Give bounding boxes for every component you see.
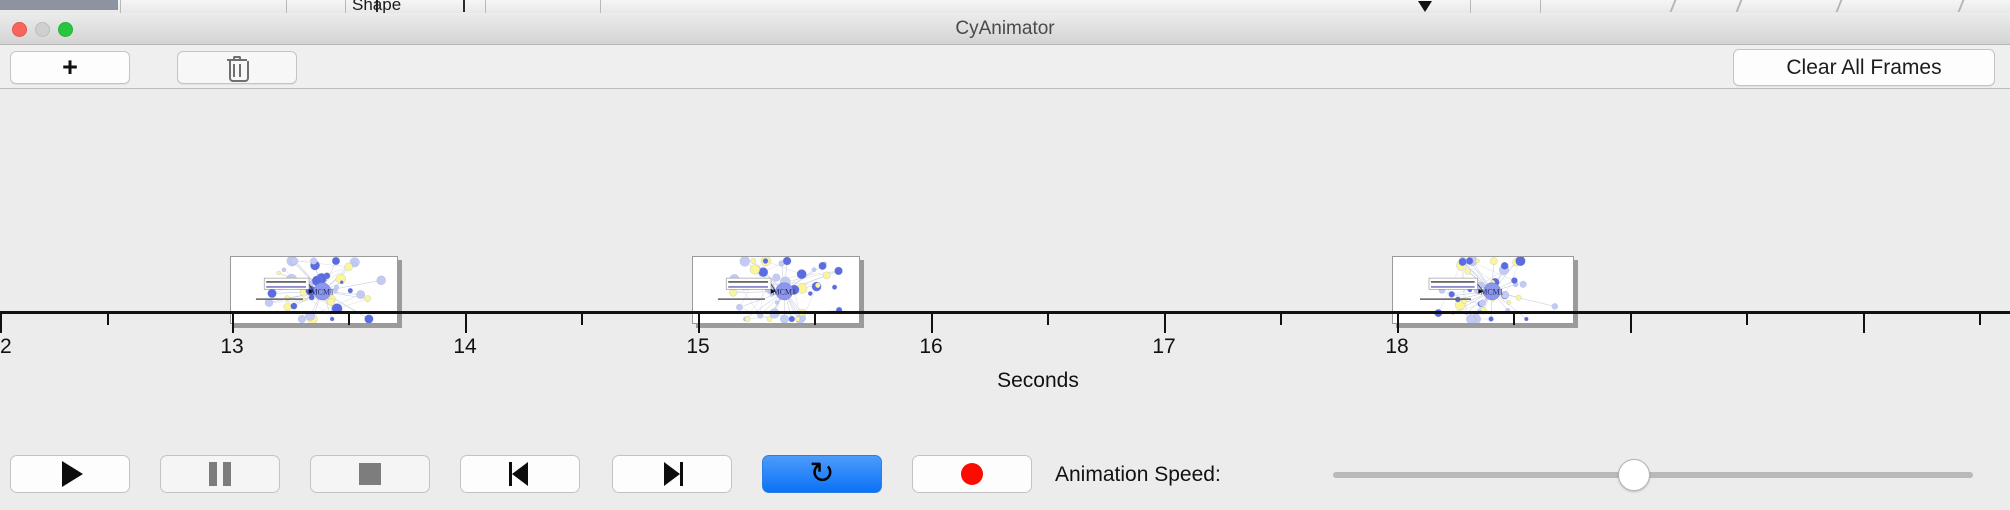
background-window-dark-block xyxy=(0,0,118,10)
background-seam xyxy=(1540,0,1541,13)
background-seam xyxy=(286,0,287,13)
slider-knob[interactable] xyxy=(1618,459,1650,491)
timeline-axis-line xyxy=(0,311,2010,314)
animation-speed-label: Animation Speed: xyxy=(1055,463,1221,487)
clear-all-frames-button[interactable]: Clear All Frames xyxy=(1733,49,1995,86)
svg-text:MCM1: MCM1 xyxy=(1480,287,1503,296)
axis-tick-label: 13 xyxy=(220,335,243,359)
axis-tick xyxy=(465,314,467,333)
skip-start-icon xyxy=(508,462,532,486)
loop-button[interactable]: ↻ xyxy=(762,455,882,493)
axis-tick-label: 12 xyxy=(0,335,12,359)
slider-rail xyxy=(1333,472,1973,478)
axis-tick xyxy=(581,314,583,325)
axis-tick xyxy=(232,314,234,333)
axis-tick xyxy=(1863,314,1865,333)
skip-to-end-button[interactable] xyxy=(612,455,732,493)
record-button[interactable] xyxy=(912,455,1032,493)
pause-icon xyxy=(209,462,231,486)
title-bar: CyAnimator xyxy=(0,13,2010,45)
axis-tick xyxy=(1513,314,1515,325)
trash-lid xyxy=(233,56,241,60)
trash-line xyxy=(239,64,241,77)
pause-button[interactable] xyxy=(160,455,280,493)
plus-icon: + xyxy=(62,54,78,81)
axis-tick xyxy=(1979,314,1981,325)
loop-icon: ↻ xyxy=(809,459,834,489)
axis-tick xyxy=(1164,314,1166,333)
axis-title-label: Seconds xyxy=(997,369,1079,392)
add-frame-button[interactable]: + xyxy=(10,51,130,84)
skip-end-icon xyxy=(660,462,684,486)
axis-tick xyxy=(0,314,2,333)
stop-icon xyxy=(359,463,381,485)
playback-bar: ↻ Animation Speed: xyxy=(0,443,2010,510)
frame-toolbar: + Clear All Frames xyxy=(0,45,2010,89)
background-tick xyxy=(463,0,465,12)
background-slant xyxy=(1836,0,1857,12)
axis-tick xyxy=(1746,314,1748,325)
frames-area[interactable]: MCM1MCM1MCM1 xyxy=(0,89,2010,311)
axis-tick xyxy=(348,314,350,325)
axis-tick xyxy=(814,314,816,325)
play-button[interactable] xyxy=(10,455,130,493)
axis-tick xyxy=(1280,314,1282,325)
background-window-label: Shape xyxy=(352,0,401,13)
axis-tick xyxy=(698,314,700,333)
axis-tick-label: 18 xyxy=(1385,335,1408,359)
background-window-strip: Shape xyxy=(0,0,2010,13)
background-slant xyxy=(1958,0,1979,12)
axis-tick-label: 16 xyxy=(919,335,942,359)
axis-tick-label: 17 xyxy=(1152,335,1175,359)
axis-tick xyxy=(931,314,933,333)
svg-text:MCM1: MCM1 xyxy=(311,287,334,296)
skip-to-start-button[interactable] xyxy=(460,455,580,493)
background-slant xyxy=(1670,0,1691,12)
cyanimator-window: Shape CyAnimator + Clear All Frames xyxy=(0,0,2010,510)
window-title: CyAnimator xyxy=(0,13,2010,45)
timeline-panel[interactable]: MCM1MCM1MCM1 12131415161718 Seconds xyxy=(0,89,2010,416)
record-icon xyxy=(961,463,983,485)
axis-tick xyxy=(1047,314,1049,325)
play-icon xyxy=(62,461,83,487)
background-slant xyxy=(1736,0,1757,12)
axis-tick xyxy=(107,314,109,325)
axis-tick xyxy=(1397,314,1399,333)
delete-frame-button[interactable] xyxy=(177,51,297,84)
stop-button[interactable] xyxy=(310,455,430,493)
background-seam xyxy=(120,0,121,13)
axis-tick xyxy=(1630,314,1632,333)
background-seam xyxy=(600,0,601,13)
background-seam xyxy=(345,0,346,13)
axis-tick-label: 15 xyxy=(686,335,709,359)
trash-line xyxy=(233,64,235,77)
trash-icon xyxy=(227,56,247,80)
svg-text:MCM1: MCM1 xyxy=(773,287,796,296)
background-seam xyxy=(1470,0,1471,13)
axis-title: Seconds xyxy=(0,369,2010,393)
background-seam xyxy=(485,0,486,13)
animation-speed-slider[interactable] xyxy=(1333,472,1973,478)
background-arrow-icon xyxy=(1418,1,1432,12)
axis-tick-label: 14 xyxy=(453,335,476,359)
